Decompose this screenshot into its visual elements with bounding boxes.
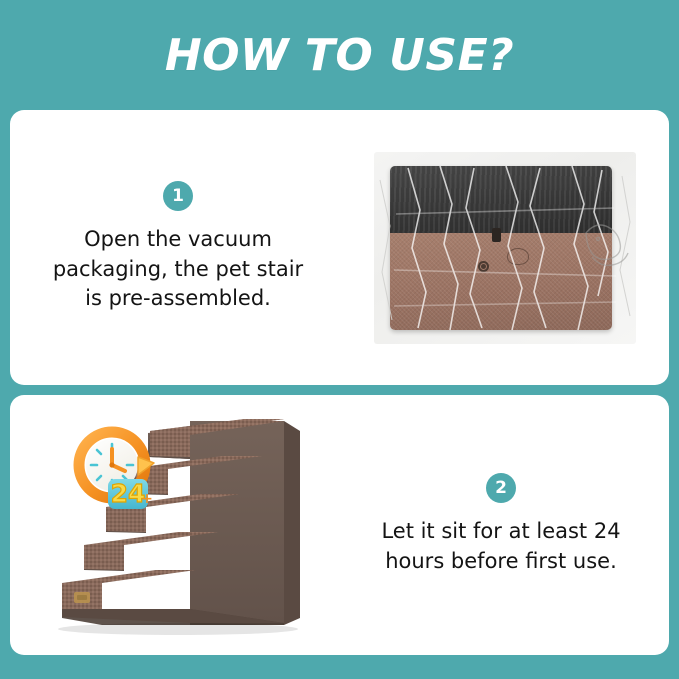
step-2-media: 24 + — [10, 395, 339, 655]
step-card-1: 1 Open the vacuum packaging, the pet sta… — [10, 110, 669, 385]
step-1-media — [340, 110, 669, 385]
header: HOW TO USE? — [0, 0, 679, 110]
page-title: HOW TO USE? — [165, 30, 514, 81]
step-card-2: 24 + 2 Let it sit for at least 24 hours … — [10, 395, 669, 655]
step-2-description: Let it sit for at least 24 hours before … — [374, 517, 629, 577]
vacuum-package-image — [374, 152, 636, 344]
dog-line-art-icon — [578, 213, 638, 283]
fabric-tag — [507, 248, 529, 265]
24-hour-clock-icon: 24 + — [68, 423, 164, 519]
step-1-description: Open the vacuum packaging, the pet stair… — [51, 225, 306, 314]
how-to-use-infographic: HOW TO USE? 1 Open the vacuum packaging,… — [0, 0, 679, 679]
clock-badge-plus: + — [141, 491, 153, 507]
pet-stairs-image: 24 + — [10, 395, 339, 655]
step-1-text-block: 1 Open the vacuum packaging, the pet sta… — [10, 181, 340, 314]
step-2-number-badge: 2 — [486, 473, 516, 503]
step-1-number-badge: 1 — [163, 181, 193, 211]
recycle-icon — [478, 261, 489, 272]
step-2-text-block: 2 Let it sit for at least 24 hours befor… — [339, 473, 669, 577]
zipper-pull-icon — [492, 228, 501, 242]
